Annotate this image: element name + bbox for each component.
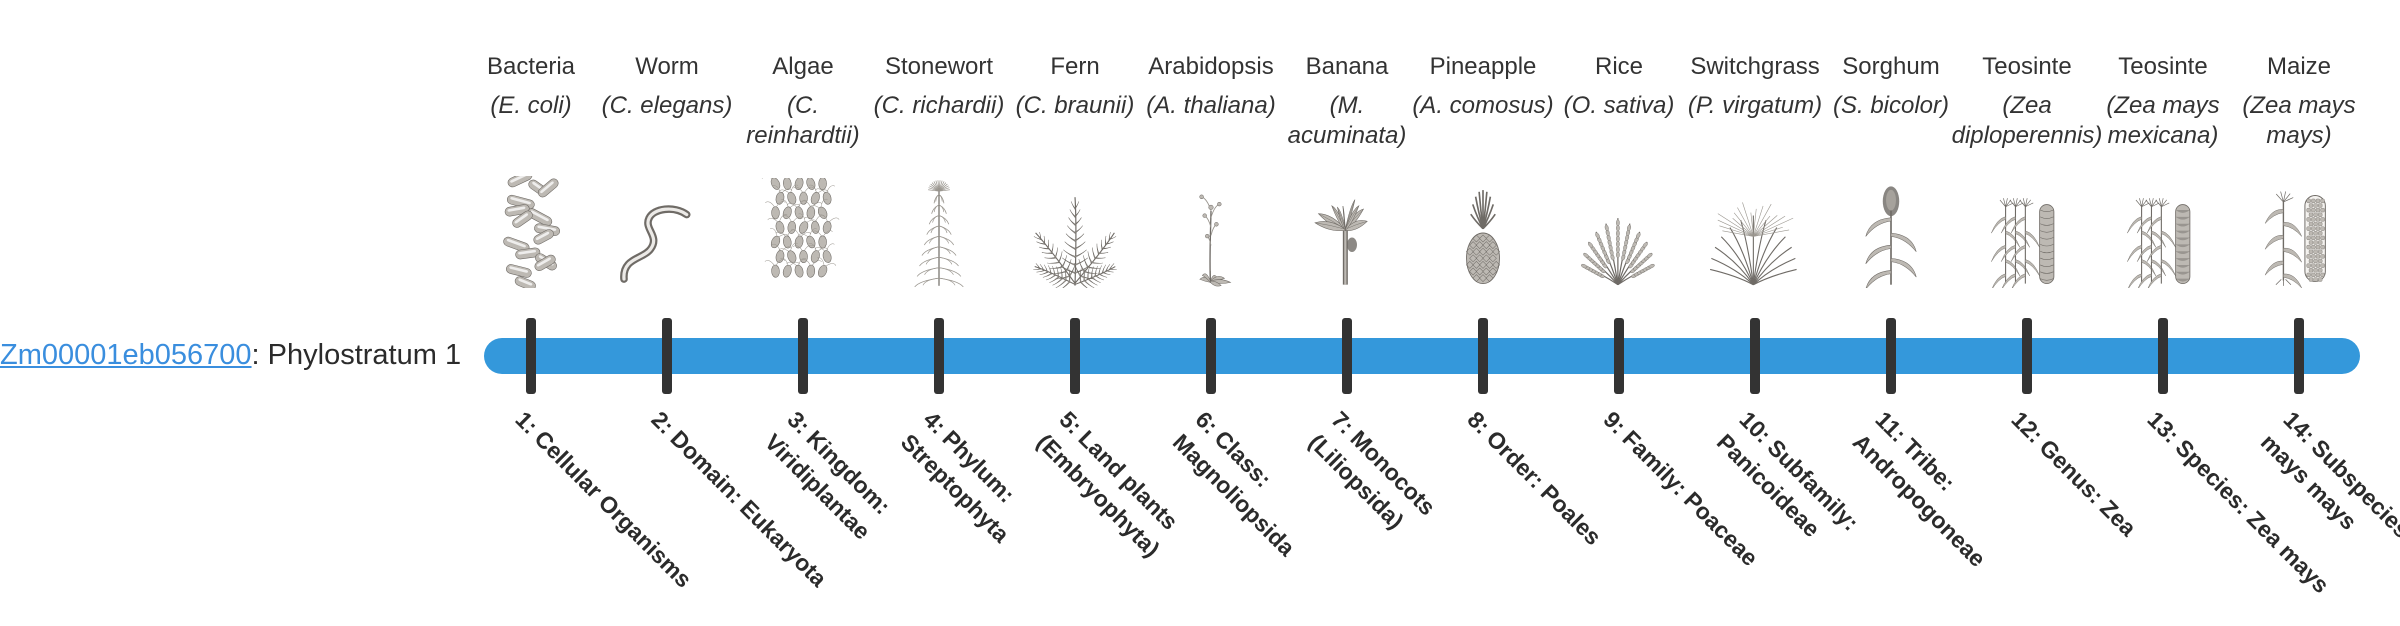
species-header: Stonewort(C. richardii) [863, 52, 1015, 121]
species-header: Teosinte(Zea diploperennis) [1951, 52, 2103, 151]
species-header: Rice(O. sativa) [1543, 52, 1695, 121]
species-scientific-name: (C. reinhardtii) [727, 91, 879, 151]
algae-illustration [735, 168, 871, 288]
phylostratum-tick[interactable] [1206, 318, 1216, 394]
banana-illustration [1279, 168, 1415, 288]
arabidopsis-illustration [1143, 168, 1279, 288]
species-header: Fern(C. braunii) [999, 52, 1151, 121]
species-scientific-name: (C. braunii) [999, 91, 1151, 121]
species-scientific-name: (A. comosus) [1407, 91, 1559, 121]
species-column: Teosinte(Zea mays mexicana)13: Species: … [2095, 0, 2231, 580]
phylostratum-tick[interactable] [1070, 318, 1080, 394]
teosinte-mexicana-illustration [2095, 168, 2231, 288]
species-common-name: Fern [999, 52, 1151, 82]
species-scientific-name: (C. richardii) [863, 91, 1015, 121]
phylostratum-tick[interactable] [526, 318, 536, 394]
species-column: Sorghum(S. bicolor)11: Tribe: Andropogon… [1823, 0, 1959, 580]
species-column: Rice(O. sativa)9: Family: Poaceae [1551, 0, 1687, 580]
maize-illustration [2231, 168, 2367, 288]
phylostratum-tick[interactable] [1886, 318, 1896, 394]
bacteria-illustration [463, 168, 599, 288]
phylostratum-tick[interactable] [2158, 318, 2168, 394]
rice-illustration [1551, 168, 1687, 288]
species-header: Bacteria(E. coli) [455, 52, 607, 121]
species-scientific-name: (C. elegans) [591, 91, 743, 121]
species-header: Switchgrass(P. virgatum) [1679, 52, 1831, 121]
species-column: Stonewort(C. richardii)4: Phylum: Strept… [871, 0, 1007, 580]
species-common-name: Teosinte [1951, 52, 2103, 82]
species-common-name: Stonewort [863, 52, 1015, 82]
species-column: Maize(Zea mays mays)14: Subspecies: Zea … [2231, 0, 2367, 580]
species-column: Arabidopsis(A. thaliana) 6: Class: Magno… [1143, 0, 1279, 580]
species-header: Worm(C. elegans) [591, 52, 743, 121]
phylostratum-tick[interactable] [798, 318, 808, 394]
switchgrass-illustration [1687, 168, 1823, 288]
species-header: Teosinte(Zea mays mexicana) [2087, 52, 2239, 151]
species-header: Sorghum(S. bicolor) [1815, 52, 1967, 121]
phylostratum-tick[interactable] [1750, 318, 1760, 394]
species-scientific-name: (A. thaliana) [1135, 91, 1287, 121]
species-common-name: Switchgrass [1679, 52, 1831, 82]
species-common-name: Rice [1543, 52, 1695, 82]
species-column: Worm(C. elegans) 2: Domain: Eukaryota [599, 0, 735, 580]
species-scientific-name: (S. bicolor) [1815, 91, 1967, 121]
species-common-name: Banana [1271, 52, 1423, 82]
species-scientific-name: (M. acuminata) [1271, 91, 1423, 151]
species-header: Banana(M. acuminata) [1271, 52, 1423, 151]
phylostratum-tick[interactable] [1478, 318, 1488, 394]
species-header: Arabidopsis(A. thaliana) [1135, 52, 1287, 121]
fern-illustration [1007, 168, 1143, 288]
species-header: Pineapple(A. comosus) [1407, 52, 1559, 121]
species-scientific-name: (E. coli) [455, 91, 607, 121]
species-column: Teosinte(Zea diploperennis)12: Genus: Ze… [1959, 0, 2095, 580]
phylostratum-tick[interactable] [2294, 318, 2304, 394]
species-common-name: Bacteria [455, 52, 607, 82]
phylostratum-tick[interactable] [1614, 318, 1624, 394]
species-common-name: Teosinte [2087, 52, 2239, 82]
species-column: Fern(C. braunii) 5: Land plants (Embryop… [1007, 0, 1143, 580]
species-scientific-name: (O. sativa) [1543, 91, 1695, 121]
phylostratum-tick[interactable] [662, 318, 672, 394]
species-column: Banana(M. acuminata) 7: Monocots (Liliop… [1279, 0, 1415, 580]
species-common-name: Arabidopsis [1135, 52, 1287, 82]
species-common-name: Maize [2223, 52, 2375, 82]
species-common-name: Sorghum [1815, 52, 1967, 82]
teosinte-diploperennis-illustration [1959, 168, 2095, 288]
sorghum-illustration [1823, 168, 1959, 288]
species-column: Bacteria(E. coli) [463, 0, 599, 580]
species-common-name: Algae [727, 52, 879, 82]
species-common-name: Pineapple [1407, 52, 1559, 82]
species-column: Algae(C. reinhardtii) [735, 0, 871, 580]
stonewort-illustration [871, 168, 1007, 288]
species-column: Switchgrass(P. virgatum)10: Subfamily: P… [1687, 0, 1823, 580]
species-header: Maize(Zea mays mays) [2223, 52, 2375, 151]
species-columns: Bacteria(E. coli) [0, 0, 2400, 580]
phylostratum-tick[interactable] [1342, 318, 1352, 394]
species-scientific-name: (Zea diploperennis) [1951, 91, 2103, 151]
worm-illustration [599, 168, 735, 288]
species-scientific-name: (P. virgatum) [1679, 91, 1831, 121]
species-header: Algae(C. reinhardtii) [727, 52, 879, 151]
pineapple-illustration [1415, 168, 1551, 288]
species-common-name: Worm [591, 52, 743, 82]
species-scientific-name: (Zea mays mays) [2223, 91, 2375, 151]
phylostratum-tick[interactable] [2022, 318, 2032, 394]
species-column: Pineapple(A. comosus)8: Order: Poales [1415, 0, 1551, 580]
species-scientific-name: (Zea mays mexicana) [2087, 91, 2239, 151]
phylostratum-tick[interactable] [934, 318, 944, 394]
